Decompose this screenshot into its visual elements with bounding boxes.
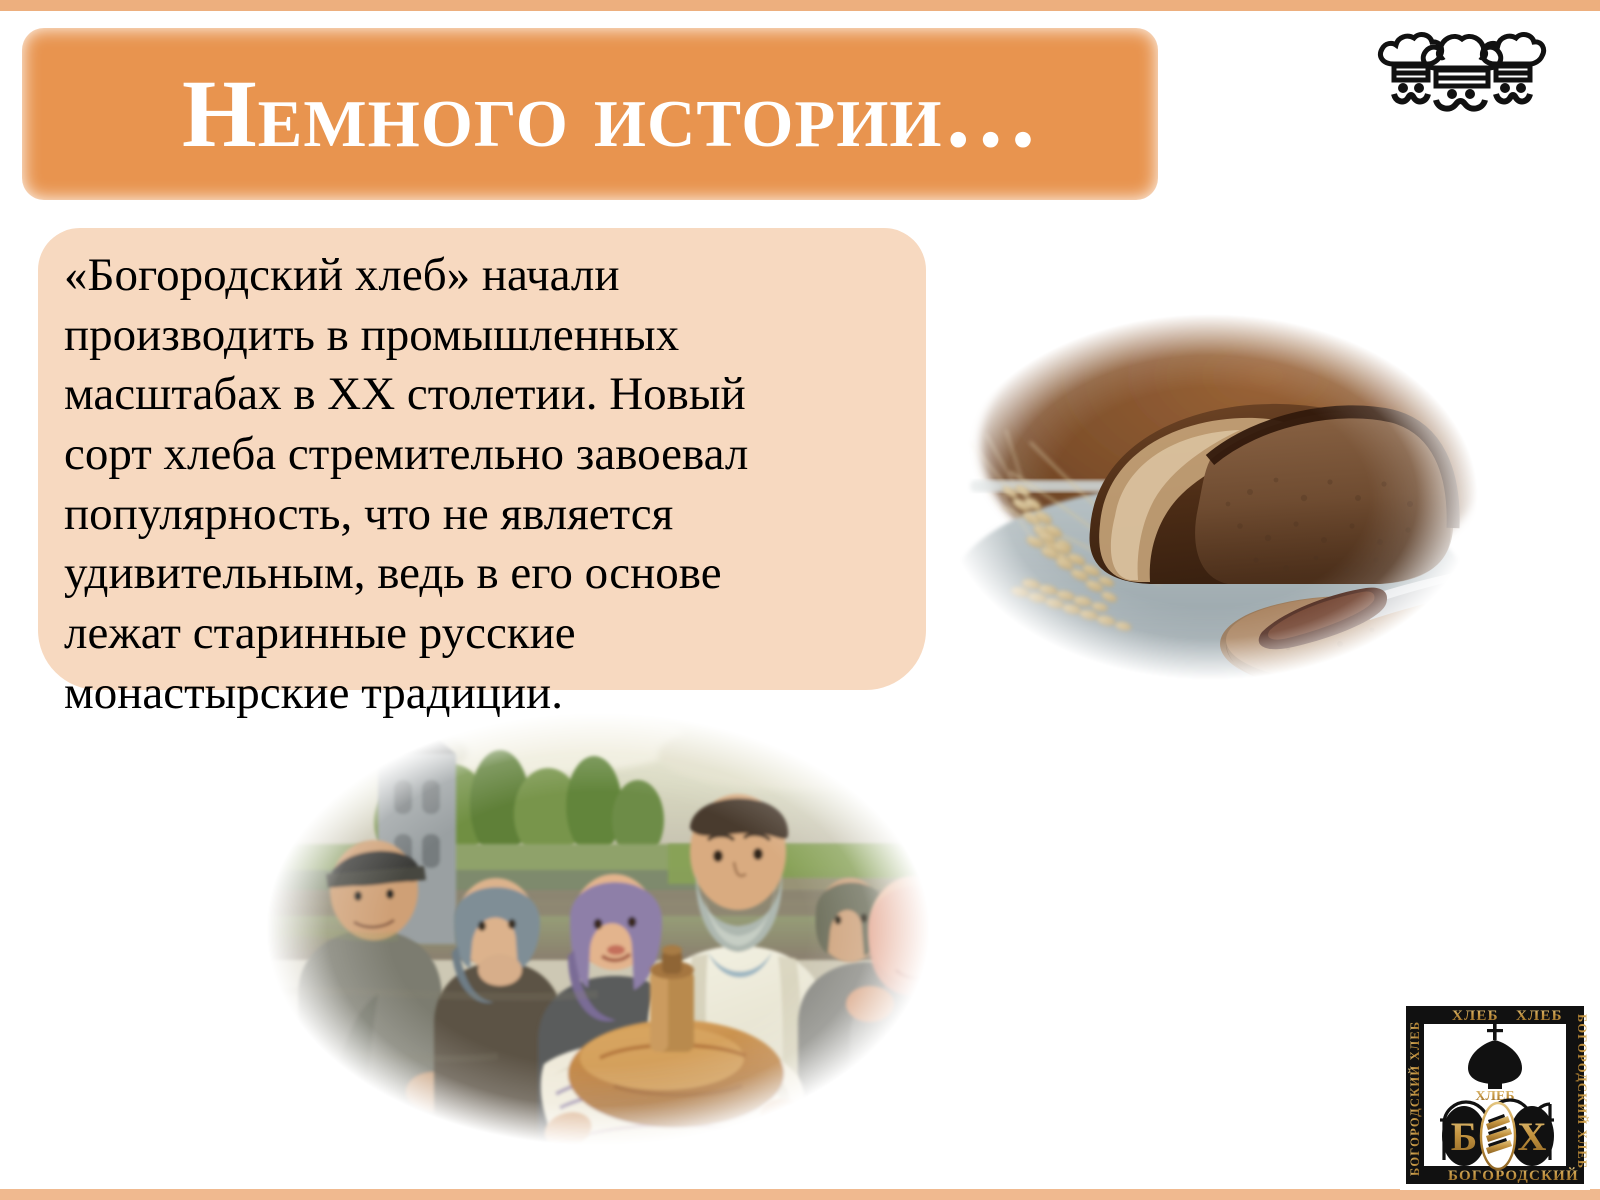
page-title: Немного истории… — [182, 66, 1039, 162]
body-line: производить в промышленных — [64, 306, 904, 366]
decorative-bottom-bar — [0, 1189, 1600, 1200]
logo-bottom-word: БОГОРОДСКИЙ — [1448, 1167, 1579, 1184]
logo-top-right-word: ХЛЕБ — [1516, 1008, 1563, 1024]
logo-letter-h: Х — [1518, 1114, 1547, 1159]
body-line: популярность, что не является — [64, 485, 904, 545]
rye-bread-photo — [910, 292, 1510, 702]
body-line: «Богородский хлеб» начали — [64, 246, 904, 306]
history-body-text: «Богородский хлеб» начали производить в … — [64, 246, 904, 724]
body-line: масштабах в XX столетии. Новый — [64, 365, 904, 425]
title-banner: Немного истории… — [22, 28, 1158, 200]
body-line: лежат старинные русские — [64, 604, 904, 664]
history-text-panel: «Богородский хлеб» начали производить в … — [38, 228, 926, 690]
logo-dome-word: ХЛЕБ — [1475, 1089, 1514, 1104]
bogorodsky-hleb-logo: ХЛЕБ ХЛЕБ БОГОРОДСКИЙ БОГОРОДСКИЙ ХЛЕБ Б… — [1400, 1000, 1590, 1190]
logo-top-left-word: ХЛЕБ — [1452, 1008, 1499, 1024]
logo-right-edge-word: БОГОРОДСКИЙ ХЛЕБ — [1575, 1014, 1589, 1169]
chef-hats-icon — [1374, 24, 1550, 112]
bread-and-salt-painting — [238, 694, 958, 1164]
body-line: сорт хлеба стремительно завоевал — [64, 425, 904, 485]
logo-letter-b: Б — [1451, 1114, 1477, 1159]
decorative-top-bar — [0, 0, 1600, 11]
logo-left-edge-word: БОГОРОДСКИЙ ХЛЕБ — [1408, 1021, 1422, 1176]
body-line: удивительным, ведь в его основе — [64, 544, 904, 604]
